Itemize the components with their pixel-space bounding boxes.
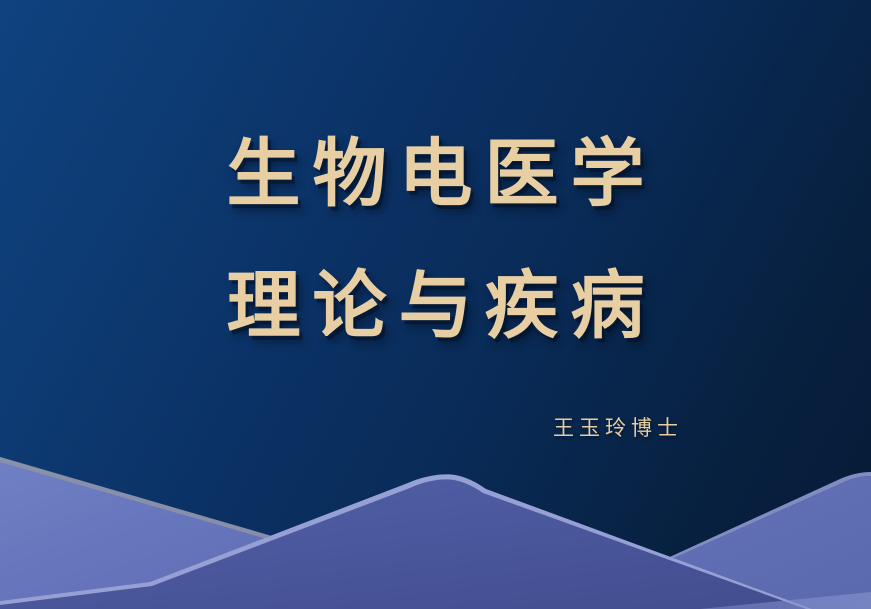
slide-title-line-2: 理论与疾病 xyxy=(0,269,871,343)
front-ridge xyxy=(0,474,812,609)
decorative-mountains xyxy=(0,449,871,609)
bottom-sliver xyxy=(700,592,871,609)
slide-title-line-1: 生物电医学 xyxy=(0,137,871,211)
presentation-slide: 生物电医学 理论与疾病 王玉玲博士 xyxy=(0,0,871,609)
slide-byline-author: 王玉玲博士 xyxy=(0,412,871,442)
back-ridge xyxy=(0,457,871,609)
